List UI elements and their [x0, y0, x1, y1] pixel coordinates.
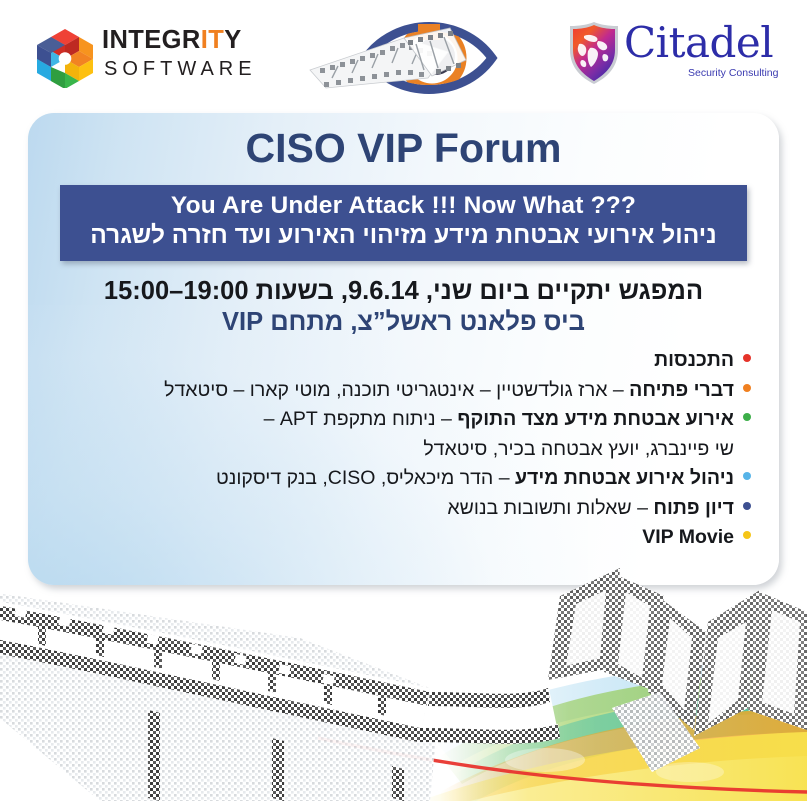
integrity-wordmark: INTEGRITY [102, 28, 242, 54]
list-item: ניהול אירוע אבטחת מידע – הדר מיכאליס, CI… [51, 466, 751, 492]
agenda-item-bold: דיון פתוח [653, 497, 734, 519]
agenda-item-rest: שי פיינברג, יועץ אבטחה בכיר, סיטאדל [423, 438, 734, 460]
integrity-word-part1: INTEGR [102, 26, 201, 54]
citadel-wordmark: Citadel [624, 22, 773, 64]
agenda-item-bold: התכנסות [654, 349, 734, 371]
integrity-hexagon-icon [34, 26, 96, 88]
list-item: שי פיינברג, יועץ אבטחה בכיר, סיטאדל [51, 437, 751, 463]
agenda-item-rest: – ניתוח מתקפת APT – [264, 408, 458, 430]
agenda-list: התכנסות דברי פתיחה – ארז גולדשטיין – אינ… [51, 348, 751, 555]
agenda-item-text: אירוע אבטחת מידע מצד התוקף – ניתוח מתקפת… [264, 407, 734, 433]
agenda-item-text: ניהול אירוע אבטחת מידע – הדר מיכאליס, CI… [216, 466, 734, 492]
integrity-word-part2: Y [224, 26, 241, 54]
logo-bar: INTEGRITY SOFTWARE [0, 0, 807, 110]
list-item: דיון פתוח – שאלות ותשובות בנושא [51, 496, 751, 522]
card-inner: CISO VIP Forum You Are Under Attack !!! … [28, 113, 779, 585]
event-venue: ביס פלאנט ראשל”צ, מתחם VIP [28, 307, 779, 337]
agenda-item-rest: – הדר מיכאליס, CISO, בנק דיסקונט [216, 467, 515, 489]
agenda-item-text: VIP Movie [642, 525, 734, 551]
agenda-item-text: דברי פתיחה – ארז גולדשטיין – אינטגריטי ת… [164, 378, 734, 404]
event-datetime: המפגש יתקיים ביום שני, 9.6.14, בשעות 19:… [28, 276, 779, 306]
list-item: VIP Movie [51, 525, 751, 551]
bullet-icon [743, 384, 751, 392]
eye-film-logo [308, 14, 530, 100]
agenda-item-bold: דברי פתיחה [629, 379, 734, 401]
agenda-item-bold: ניהול אירוע אבטחת מידע [515, 467, 734, 489]
headline-hebrew: ניהול אירועי אבטחת מידע מזיהוי האירוע וע… [70, 221, 737, 251]
agenda-item-text: התכנסות [654, 348, 734, 374]
list-item: דברי פתיחה – ארז גולדשטיין – אינטגריטי ת… [51, 378, 751, 404]
agenda-item-bold: אירוע אבטחת מידע מצד התוקף [457, 408, 734, 430]
bullet-icon [743, 531, 751, 539]
integrity-subtitle: SOFTWARE [104, 59, 257, 79]
headline-banner: You Are Under Attack !!! Now What ??? ני… [60, 185, 747, 261]
bullet-icon [743, 472, 751, 480]
poster-root: INTEGRITY SOFTWARE [0, 0, 807, 801]
bullet-icon [743, 502, 751, 510]
bullet-icon [743, 354, 751, 362]
agenda-item-text: שי פיינברג, יועץ אבטחה בכיר, סיטאדל [423, 437, 734, 463]
citadel-subtitle: Security Consulting [688, 68, 778, 79]
list-item: אירוע אבטחת מידע מצד התוקף – ניתוח מתקפת… [51, 407, 751, 433]
integrity-software-logo: INTEGRITY SOFTWARE [34, 26, 264, 88]
integrity-word-accent: IT [201, 26, 224, 54]
citadel-shield-globe-icon [566, 20, 622, 86]
page-title: CISO VIP Forum [28, 126, 779, 171]
agenda-item-rest: – ארז גולדשטיין – אינטגריטי תוכנה, מוטי … [164, 379, 629, 401]
citadel-logo: Citadel Security Consulting [566, 20, 788, 94]
agenda-item-text: דיון פתוח – שאלות ותשובות בנושא [447, 496, 734, 522]
headline-english: You Are Under Attack !!! Now What ??? [70, 192, 737, 221]
agenda-item-rest: – שאלות ותשובות בנושא [447, 497, 653, 519]
film-strip-wave-artwork [0, 560, 807, 801]
agenda-item-bold: VIP Movie [642, 526, 734, 548]
main-card: CISO VIP Forum You Are Under Attack !!! … [28, 113, 779, 585]
bullet-icon [743, 413, 751, 421]
list-item: התכנסות [51, 348, 751, 374]
